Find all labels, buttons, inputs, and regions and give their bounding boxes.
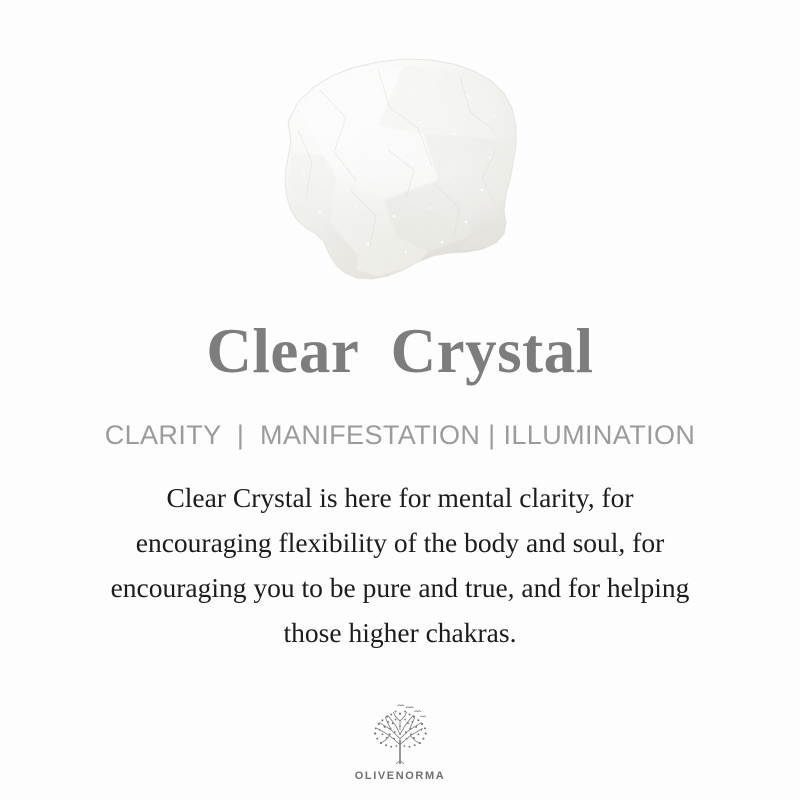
description-line: Clear Crystal is here for mental clarity… [40, 475, 760, 520]
clear-crystal-image [228, 30, 558, 305]
product-keywords: CLARITY | MANIFESTATION | ILLUMINATION [105, 422, 696, 449]
description-line: encouraging flexibility of the body and … [40, 520, 760, 565]
product-description: Clear Crystal is here for mental clarity… [40, 475, 760, 655]
product-title: Clear Crystal [206, 320, 593, 390]
tree-of-life-icon [363, 702, 437, 768]
description-line: encouraging you to be pure and true, and… [40, 565, 760, 610]
birds-icon [398, 705, 426, 717]
brand-logo: OLIVENORMA [0, 702, 800, 782]
product-info-card: Clear Crystal CLARITY | MANIFESTATION | … [0, 0, 800, 800]
brand-wordmark: OLIVENORMA [355, 770, 446, 782]
tree-branches [377, 712, 422, 763]
product-image-container [0, 0, 800, 320]
description-line: those higher chakras. [40, 610, 760, 655]
crystal-body [228, 30, 558, 305]
